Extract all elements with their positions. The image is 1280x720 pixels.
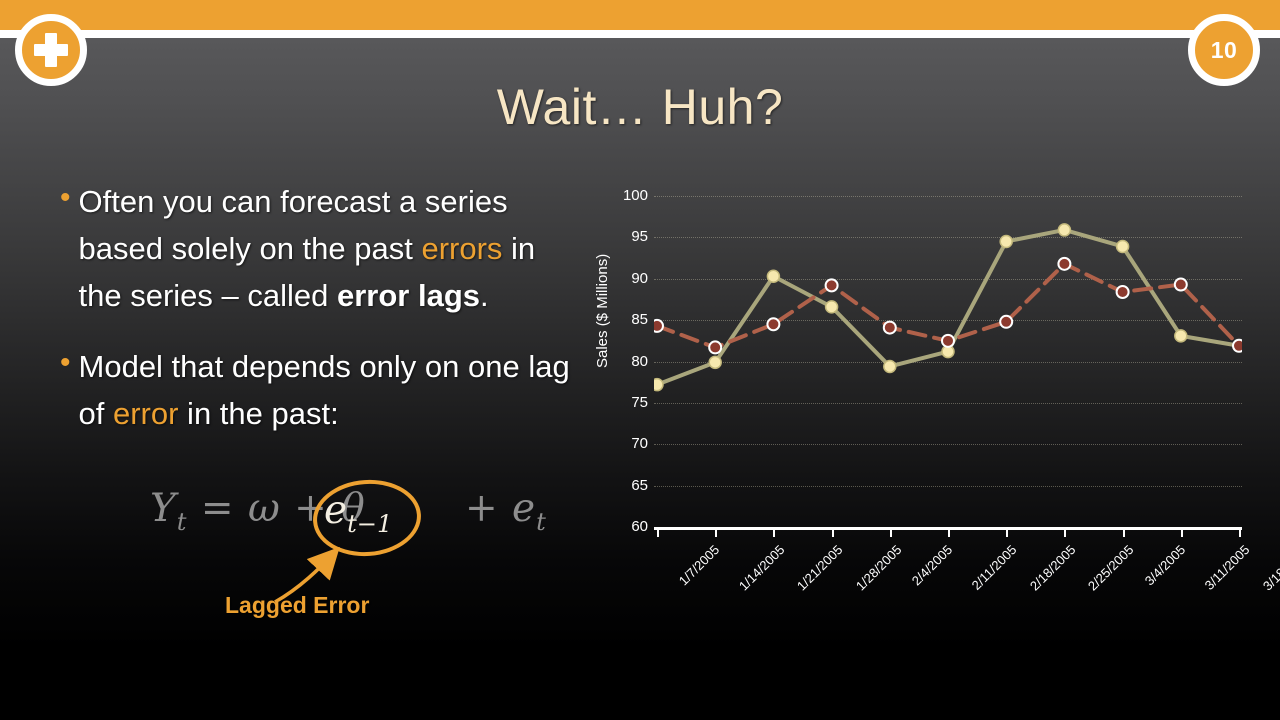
x-tick (890, 530, 892, 537)
plus-icon (34, 33, 68, 67)
data-point (1233, 340, 1242, 352)
lagged-error-label: Lagged Error (225, 592, 369, 619)
equation-block: Yt = ω + θ et−1 + et et−1 Lagged Error (140, 486, 560, 626)
list-item: • Model that depends only on one lag of … (60, 343, 580, 437)
data-point (767, 318, 779, 330)
data-point (1058, 224, 1070, 236)
x-tick (948, 530, 950, 537)
x-tick (773, 530, 775, 537)
y-tick-label: 85 (606, 312, 648, 327)
y-tick-label: 90 (606, 271, 648, 286)
x-tick-label: 1/21/2005 (794, 542, 846, 594)
data-point (884, 322, 896, 334)
data-point (767, 270, 779, 282)
page-number-badge: 10 (1188, 14, 1260, 86)
data-point (884, 360, 896, 372)
y-tick-label: 60 (606, 519, 648, 534)
logo-badge (15, 14, 87, 86)
y-tick-label: 100 (606, 188, 648, 203)
eq-suffix: + e (452, 486, 537, 531)
x-tick-label: 3/4/2005 (1141, 542, 1187, 588)
sales-line-chart: Sales ($ Millions) 1009590858075706560 1… (596, 196, 1256, 616)
x-tick (1239, 530, 1241, 537)
x-tick (1123, 530, 1125, 537)
data-point (1175, 330, 1187, 342)
x-tick (715, 530, 717, 537)
chart-series-svg (654, 196, 1242, 536)
data-point (1000, 316, 1012, 328)
x-tick-label: 2/25/2005 (1085, 542, 1137, 594)
data-point (1175, 279, 1187, 291)
top-white-rule (0, 30, 1280, 38)
y-tick-label: 95 (606, 229, 648, 244)
eq-hl: e (324, 488, 347, 533)
list-item: • Often you can forecast a series based … (60, 178, 580, 319)
bullet-marker: • (60, 343, 71, 383)
data-point (1117, 286, 1129, 298)
y-tick-label: 65 (606, 478, 648, 493)
bullet-text-1: Often you can forecast a series based so… (79, 178, 580, 319)
data-point (654, 320, 663, 332)
y-axis-ticks: 1009590858075706560 (596, 196, 648, 536)
x-tick-label: 2/11/2005 (969, 542, 1020, 593)
data-point (826, 279, 838, 291)
data-point (709, 341, 721, 353)
bullet1-seg1-errors: errors (421, 231, 502, 266)
y-tick-label: 70 (606, 436, 648, 451)
x-tick-label: 1/7/2005 (676, 542, 722, 588)
eq-hl-sub: t−1 (347, 510, 392, 538)
data-point (942, 335, 954, 347)
x-tick (832, 530, 834, 537)
x-tick (1006, 530, 1008, 537)
bullet-text-2: Model that depends only on one lag of er… (79, 343, 580, 437)
slide-canvas: 10 Wait… Huh? • Often you can forecast a… (0, 0, 1280, 720)
bullet-marker: • (60, 178, 71, 218)
bullet-list: • Often you can forecast a series based … (60, 178, 580, 461)
eq-prefix: Y (150, 486, 177, 531)
top-accent-bar (0, 0, 1280, 30)
y-tick-label: 80 (606, 354, 648, 369)
page-number: 10 (1211, 37, 1238, 64)
equation-lagged-error-term: et−1 (324, 488, 392, 538)
data-point (1058, 258, 1070, 270)
y-tick-label: 75 (606, 395, 648, 410)
bullet2-seg2: in the past: (178, 396, 338, 431)
x-tick (1181, 530, 1183, 537)
x-tick-label: 3/11/2005 (1201, 542, 1252, 593)
series-line (657, 230, 1239, 385)
x-tick (1064, 530, 1066, 537)
x-tick-label: 2/4/2005 (909, 542, 955, 588)
x-tick (657, 530, 659, 537)
data-point (654, 379, 663, 391)
x-tick-label: 1/28/2005 (853, 542, 905, 594)
x-tick-label: 2/18/2005 (1027, 542, 1079, 594)
bullet1-seg4: . (480, 278, 489, 313)
data-point (709, 356, 721, 368)
eq-suffix-sub: t (536, 508, 547, 536)
page-title: Wait… Huh? (0, 78, 1280, 136)
bullet1-seg3-error-lags: error lags (337, 278, 480, 313)
x-tick-label: 3/18/2005 (1260, 542, 1280, 594)
data-point (1117, 240, 1129, 252)
data-point (826, 301, 838, 313)
bullet2-seg1-error: error (113, 396, 178, 431)
data-point (1000, 236, 1012, 248)
x-tick-label: 1/14/2005 (736, 542, 788, 594)
